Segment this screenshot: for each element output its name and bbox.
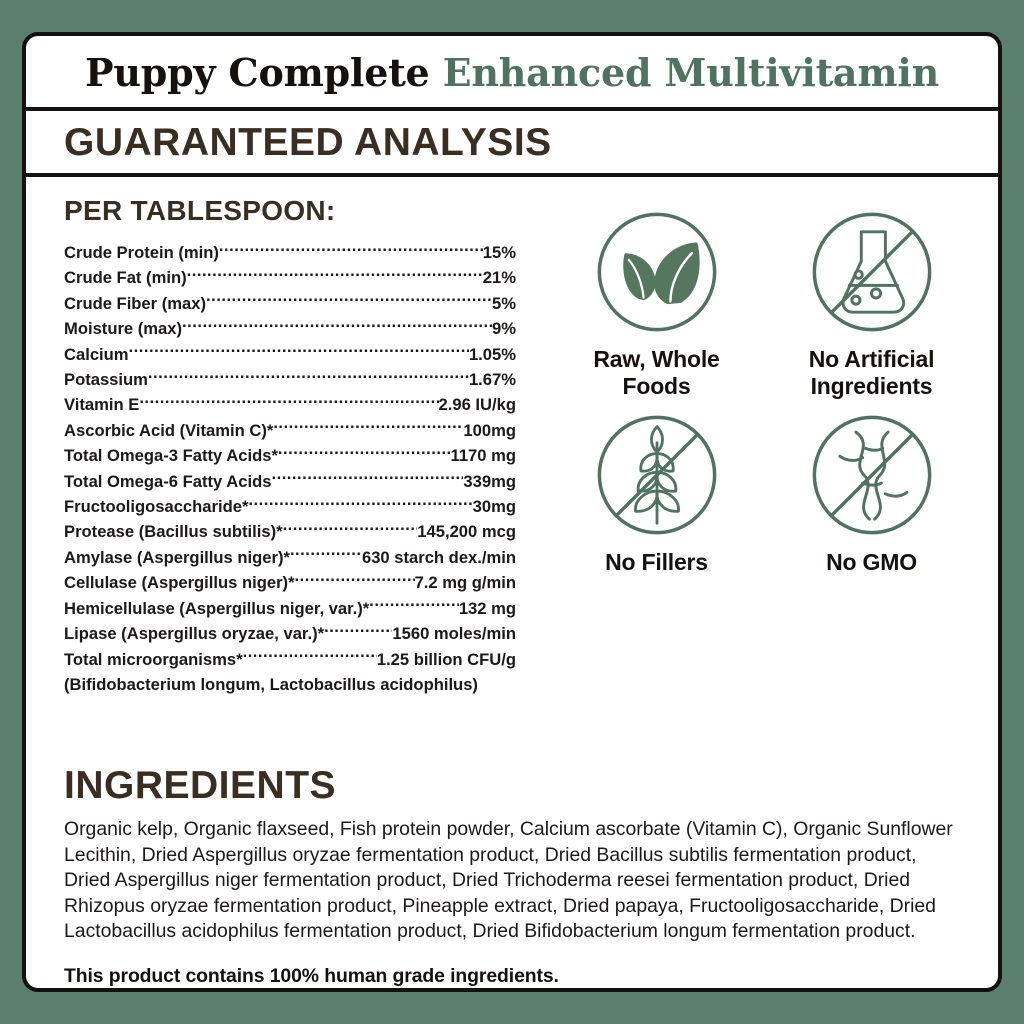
analysis-row-leader [271, 470, 463, 487]
analysis-row-leader [219, 241, 483, 258]
analysis-row: Total Omega-6 Fatty Acids339mg [64, 469, 516, 494]
badge-raw-whole-foods: Raw, WholeFoods [552, 205, 761, 400]
analysis-row-value: 1.25 billion CFU/g [377, 647, 516, 672]
analysis-row-name: Crude Fat (min) [64, 265, 187, 290]
analysis-row-name: Protease (Bacillus subtilis)* [64, 519, 283, 544]
analysis-row-name: Cellulase (Aspergillus niger)* [64, 570, 295, 595]
analysis-row-value: 30mg [473, 494, 516, 519]
guaranteed-analysis-band: GUARANTEED ANALYSIS [26, 111, 998, 177]
analysis-row-value: 1560 moles/min [392, 621, 516, 646]
analysis-row-name: Ascorbic Acid (Vitamin C)* [64, 418, 273, 443]
analysis-row-value: 630 starch dex./min [362, 545, 516, 570]
analysis-list: Crude Protein (min)15%Crude Fat (min)21%… [64, 240, 546, 672]
product-title-main: Puppy Complete [85, 50, 430, 95]
analysis-row: Ascorbic Acid (Vitamin C)*100mg [64, 418, 516, 443]
analysis-row: Total microorganisms*1.25 billion CFU/g [64, 647, 516, 672]
analysis-row-leader [295, 572, 415, 589]
analysis-row-name: Amylase (Aspergillus niger)* [64, 545, 290, 570]
analysis-row-leader [187, 267, 483, 284]
analysis-row-value: 7.2 mg g/min [415, 570, 516, 595]
no-flask-icon [805, 205, 939, 339]
analysis-row-value: 1.05% [469, 342, 516, 367]
supplement-label-card: Puppy Complete Enhanced Multivitamin GUA… [22, 32, 1002, 992]
badge-label: No GMO [826, 549, 917, 576]
analysis-row-value: 1.67% [469, 367, 516, 392]
analysis-note: (Bifidobacterium longum, Lactobacillus a… [64, 672, 546, 697]
analysis-row-leader [324, 623, 392, 640]
analysis-row-value: 1170 mg [451, 443, 517, 468]
analysis-row-leader [248, 495, 472, 512]
analysis-row-leader [273, 419, 463, 436]
analysis-row-name: Crude Fiber (max) [64, 291, 206, 316]
analysis-row-name: Potassium [64, 367, 148, 392]
no-wheat-icon [590, 408, 724, 542]
analysis-row-name: Moisture (max) [64, 316, 182, 341]
product-title-accent: Enhanced Multivitamin [443, 50, 939, 95]
analysis-row-leader [129, 343, 469, 360]
analysis-row-value: 5% [492, 291, 516, 316]
analysis-row-name: Lipase (Aspergillus oryzae, var.)* [64, 621, 324, 646]
analysis-row: Moisture (max)9% [64, 316, 516, 341]
analysis-row-name: Total Omega-6 Fatty Acids [64, 469, 271, 494]
analysis-row-name: Fructooligosaccharide* [64, 494, 248, 519]
analysis-row: Fructooligosaccharide*30mg [64, 494, 516, 519]
analysis-row-name: Crude Protein (min) [64, 240, 219, 265]
analysis-row: Amylase (Aspergillus niger)*630 starch d… [64, 545, 516, 570]
analysis-row-value: 145,200 mcg [417, 519, 516, 544]
analysis-row-value: 21% [483, 265, 516, 290]
body-area: PER TABLESPOON: Crude Protein (min)15%Cr… [26, 177, 998, 764]
analysis-row-leader [206, 292, 492, 309]
analysis-row-name: Vitamin E [64, 392, 139, 417]
analysis-row-leader [369, 597, 459, 614]
badge-label: No ArtificialIngredients [809, 346, 935, 400]
analysis-row-name: Calcium [64, 342, 129, 367]
per-serving-heading: PER TABLESPOON: [64, 195, 546, 227]
badge-no-fillers: No Fillers [552, 408, 761, 576]
analysis-row-value: 9% [492, 316, 516, 341]
title-band: Puppy Complete Enhanced Multivitamin [26, 36, 998, 111]
analysis-row-name: Total microorganisms* [64, 647, 243, 672]
badges-column: Raw, WholeFoods No ArtificialIngredients [546, 187, 998, 764]
leaf-icon [590, 205, 724, 339]
analysis-row-leader [139, 394, 438, 411]
badge-label: No Fillers [605, 549, 708, 576]
analysis-row: Total Omega-3 Fatty Acids*1170 mg [64, 443, 516, 468]
analysis-row-value: 339mg [463, 469, 516, 494]
analysis-row: Hemicellulase (Aspergillus niger, var.)*… [64, 596, 516, 621]
ingredients-area: INGREDIENTS Organic kelp, Organic flaxse… [26, 764, 998, 988]
analysis-row-value: 15% [483, 240, 516, 265]
product-title: Puppy Complete Enhanced Multivitamin [44, 50, 980, 95]
analysis-row: Lipase (Aspergillus oryzae, var.)*1560 m… [64, 621, 516, 646]
analysis-row-value: 132 mg [459, 596, 516, 621]
analysis-row: Calcium1.05% [64, 342, 516, 367]
analysis-row: Crude Fiber (max)5% [64, 291, 516, 316]
analysis-row: Vitamin E2.96 IU/kg [64, 392, 516, 417]
badge-no-gmo: No GMO [767, 408, 976, 576]
ingredients-body: Organic kelp, Organic flaxseed, Fish pro… [64, 817, 964, 945]
analysis-column: PER TABLESPOON: Crude Protein (min)15%Cr… [26, 187, 546, 764]
analysis-row-leader [148, 368, 469, 385]
badge-no-artificial-ingredients: No ArtificialIngredients [767, 205, 976, 400]
analysis-row-name: Hemicellulase (Aspergillus niger, var.)* [64, 596, 369, 621]
ingredients-heading: INGREDIENTS [64, 764, 964, 808]
analysis-row: Potassium1.67% [64, 367, 516, 392]
analysis-row: Crude Protein (min)15% [64, 240, 516, 265]
badge-label: Raw, WholeFoods [593, 346, 719, 400]
analysis-row: Cellulase (Aspergillus niger)*7.2 mg g/m… [64, 570, 516, 595]
analysis-row-leader [278, 445, 451, 462]
analysis-row: Crude Fat (min)21% [64, 265, 516, 290]
analysis-row: Protease (Bacillus subtilis)*145,200 mcg [64, 519, 516, 544]
analysis-row-leader [243, 648, 377, 665]
no-dna-icon [805, 408, 939, 542]
analysis-row-name: Total Omega-3 Fatty Acids* [64, 443, 278, 468]
analysis-row-value: 2.96 IU/kg [439, 392, 516, 417]
analysis-row-leader [283, 521, 418, 538]
analysis-row-leader [290, 546, 362, 563]
analysis-row-value: 100mg [463, 418, 516, 443]
ingredients-footer: This product contains 100% human grade i… [64, 965, 964, 988]
analysis-row-leader [182, 318, 492, 335]
guaranteed-analysis-heading: GUARANTEED ANALYSIS [64, 121, 998, 165]
